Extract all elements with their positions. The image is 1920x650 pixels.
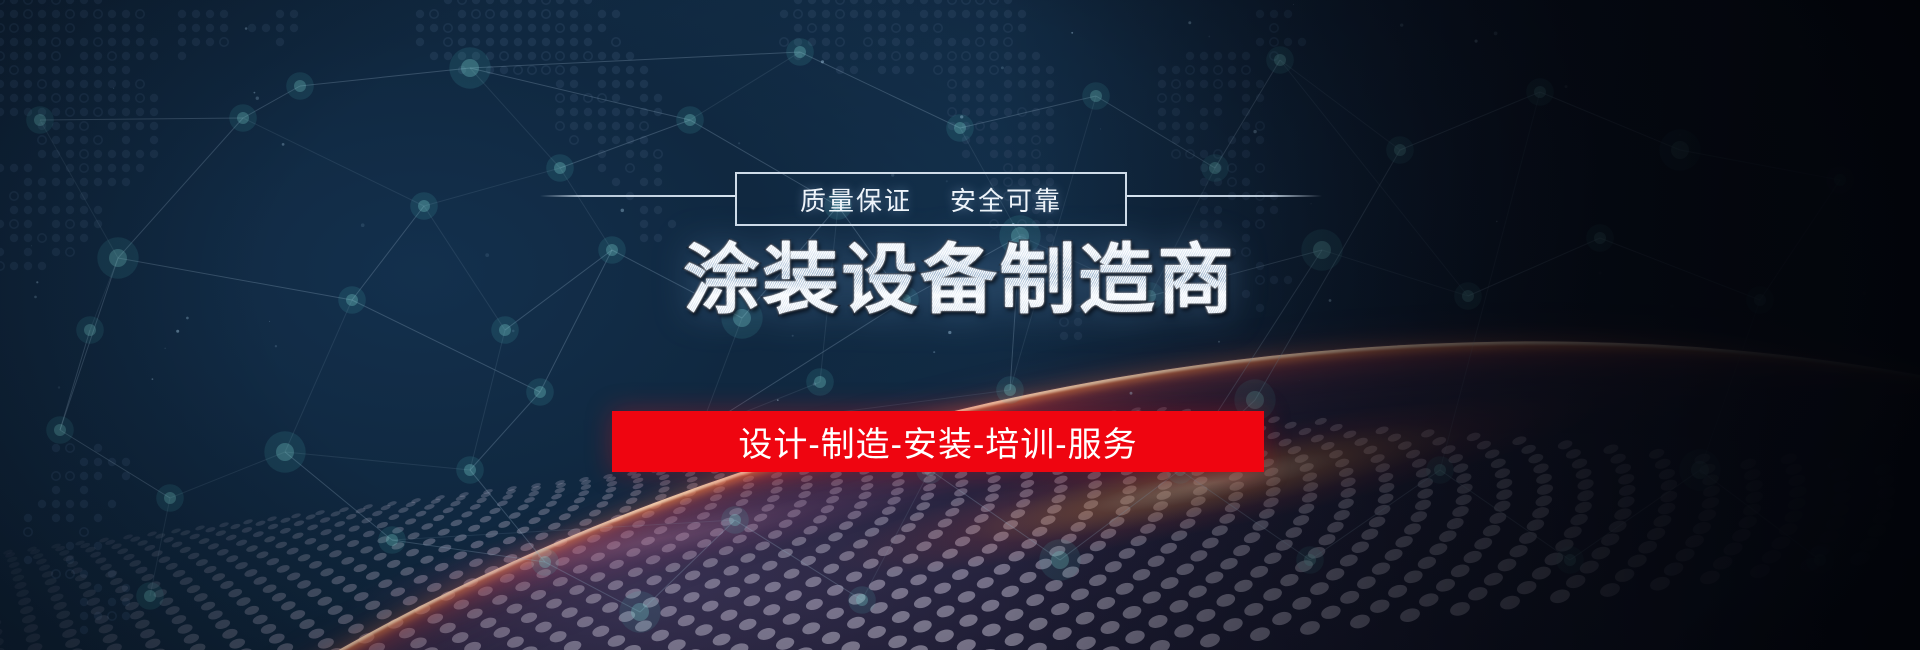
banner-content: 质量保证 安全可靠 涂装设备制造商 涂装设备制造商 设计-制造-安装-培训-服务 [0, 0, 1920, 650]
page-title: 涂装设备制造商 [0, 218, 1920, 328]
hero-banner: 质量保证 安全可靠 涂装设备制造商 涂装设备制造商 设计-制造-安装-培训-服务 [0, 0, 1920, 650]
tagline-rule-right [1126, 195, 1322, 197]
service-bar: 设计-制造-安装-培训-服务 [612, 411, 1264, 472]
tagline-rule-left [540, 195, 736, 197]
tagline-item-safety: 安全可靠 [950, 181, 1062, 218]
service-bar-label: 设计-制造-安装-培训-服务 [738, 417, 1137, 466]
tagline-item-quality: 质量保证 [800, 181, 912, 218]
